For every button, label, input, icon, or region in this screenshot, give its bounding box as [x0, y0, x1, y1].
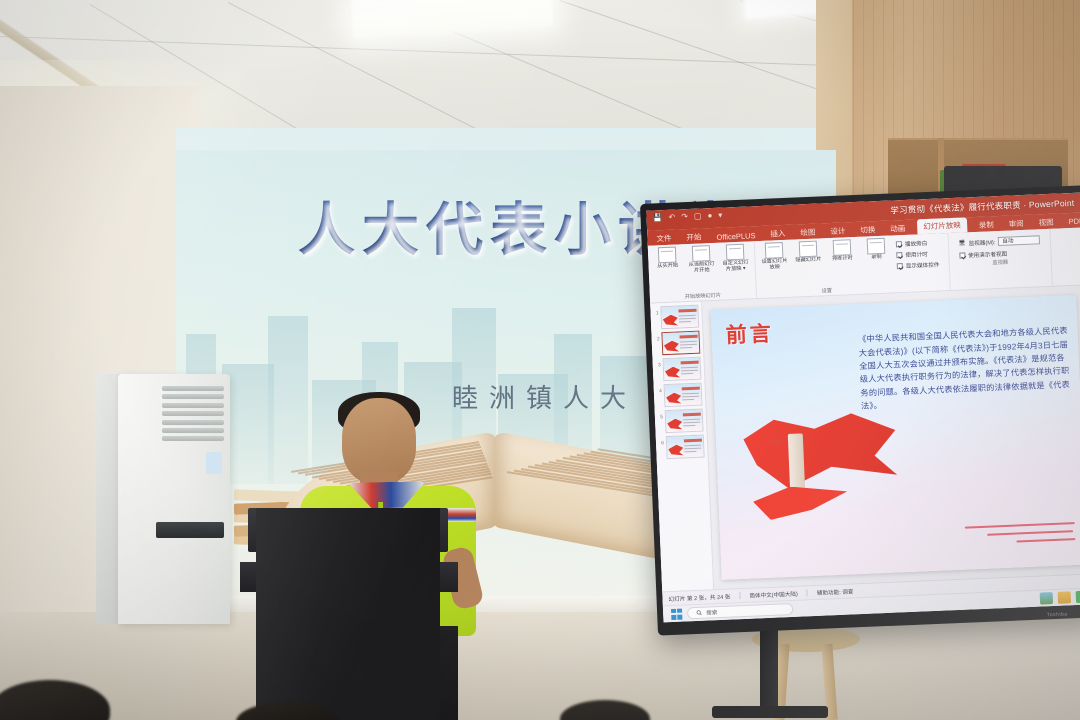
ribbon-button-label: 自定义幻灯片放映 ▾	[720, 260, 750, 273]
ribbon-button-label: 设置幻灯片放映	[759, 259, 789, 272]
play-from-start-icon	[658, 247, 677, 264]
wall-banner-subtitle: 睦洲镇人大	[452, 378, 637, 415]
play-from-current-button[interactable]: 从当前幻灯片开始	[686, 245, 717, 275]
slide-stage: 前言 《中华人民共和国全国人民代表大会和地方各级人民代表大会代表法)》(以下简称…	[702, 285, 1080, 589]
slide-thumbnail[interactable]: 1	[652, 305, 700, 330]
setup-show-icon	[765, 242, 784, 259]
ribbon-button-label: 从头开始	[657, 263, 678, 270]
slide-thumbnail-number: 1	[652, 306, 658, 316]
search-input[interactable]: 搜索	[687, 603, 793, 619]
ribbon-tab-1[interactable]: 开始	[683, 230, 705, 244]
ribbon-button-label: 排练计时	[832, 256, 853, 263]
checkbox-label: 使用计时	[905, 250, 928, 259]
current-slide[interactable]: 前言 《中华人民共和国全国人民代表大会和地方各级人民代表大会代表法)》(以下简称…	[710, 294, 1080, 580]
ribbon-tab-10[interactable]: 审阅	[1005, 217, 1027, 231]
custom-show-icon	[726, 244, 745, 261]
ribbon-button-label: 录制	[871, 255, 882, 261]
checkbox-label: 显示媒体控件	[906, 261, 940, 270]
ribbon-tab-9[interactable]: 录制	[975, 218, 997, 232]
language-indicator[interactable]: 简体中文(中国大陆)	[749, 589, 798, 599]
record-button[interactable]: 录制	[861, 238, 892, 262]
play-from-current-icon	[692, 245, 711, 262]
start-icon[interactable]	[671, 608, 682, 619]
monitor-icon: 🖥	[958, 240, 965, 246]
floor	[0, 612, 1080, 720]
present-icon[interactable]: ▢	[694, 211, 702, 220]
ribbon-button-label: 从当前幻灯片开始	[687, 262, 717, 275]
air-conditioner-side	[96, 374, 120, 624]
touch-mode-icon[interactable]: ●	[707, 211, 712, 220]
hide-slide-button[interactable]: 隐藏幻灯片	[793, 240, 824, 264]
air-conditioner-badge	[206, 452, 222, 474]
checkbox-icon	[896, 252, 902, 258]
slide-thumbnail[interactable]: 2	[653, 331, 701, 356]
search-placeholder: 搜索	[706, 608, 718, 616]
ribbon-checkbox-1[interactable]: 使用计时	[896, 250, 939, 260]
ribbon-group-setup: 设置幻灯片放映隐藏幻灯片排练计时录制 设置 播放旁白使用计时显示媒体控件	[755, 233, 951, 298]
accessibility-indicator[interactable]: 辅助功能: 调查	[817, 587, 854, 597]
setup-show-button[interactable]: 设置幻灯片放映	[759, 242, 790, 272]
quick-access-toolbar[interactable]: 💾 ↶ ↷ ▢ ● ▾	[652, 211, 722, 223]
wechat-icon[interactable]	[1076, 591, 1080, 604]
slide-thumbnail-preview	[665, 409, 704, 434]
air-conditioner-control-panel[interactable]	[156, 522, 224, 538]
rehearse-timings-icon	[833, 239, 852, 256]
air-conditioner-vents	[162, 386, 224, 444]
ribbon-tab-6[interactable]: 切换	[857, 223, 879, 237]
checkbox-icon	[896, 241, 902, 247]
ribbon-tab-11[interactable]: 视图	[1035, 216, 1057, 230]
weather-icon[interactable]	[1040, 592, 1053, 605]
tv-stand-post	[760, 628, 778, 714]
custom-show-button[interactable]: 自定义幻灯片放映 ▾	[720, 243, 751, 273]
powerpoint-window: 💾 ↶ ↷ ▢ ● ▾ 学习贯彻《代表法》履行代表职责 · PowerPoint…	[646, 193, 1080, 623]
slide-thumbnail-number: 2	[653, 332, 659, 342]
slide-decor-lines	[965, 522, 1076, 551]
tv-stand-base	[712, 706, 828, 718]
slide-body-text: 《中华人民共和国全国人民代表大会和地方各级人民代表大会代表法)》(以下简称《代表…	[858, 324, 1074, 413]
tv-bezel: 💾 ↶ ↷ ▢ ● ▾ 学习贯彻《代表法》履行代表职责 · PowerPoint…	[640, 185, 1080, 635]
ribbon-tab-7[interactable]: 动画	[887, 222, 909, 236]
explorer-icon[interactable]	[1058, 591, 1071, 604]
hide-slide-icon	[799, 241, 818, 258]
slide-thumbnail[interactable]: 5	[657, 409, 705, 434]
rehearse-timings-button[interactable]: 排练计时	[827, 239, 858, 263]
ribbon-tab-0[interactable]: 文件	[653, 232, 675, 246]
monitor-select[interactable]: 自动	[998, 235, 1040, 246]
slide-thumbnail-number: 3	[654, 358, 660, 368]
slide-thumbnail-number: 6	[658, 436, 664, 446]
ribbon-tab-3[interactable]: 插入	[767, 227, 789, 241]
slide-thumbnail-preview	[664, 383, 703, 408]
tv-screen: 💾 ↶ ↷ ▢ ● ▾ 学习贯彻《代表法》履行代表职责 · PowerPoint…	[646, 193, 1080, 623]
meeting-room-photo: 人大代表小讲堂 睦洲镇人大	[0, 0, 1080, 720]
presenter-view-checkbox[interactable]	[959, 252, 965, 258]
checkbox-icon	[897, 263, 903, 269]
play-from-start-button[interactable]: 从头开始	[652, 246, 683, 270]
slide-thumbnail-preview	[661, 331, 700, 356]
slide-heading: 前言	[725, 318, 774, 350]
more-icon[interactable]: ▾	[718, 211, 722, 220]
tv-brand-label: Toshiba	[1047, 611, 1068, 618]
redo-icon[interactable]: ↷	[681, 212, 688, 221]
ceiling-light-panel	[351, 0, 553, 38]
slide-thumbnail-preview	[660, 305, 699, 330]
slide-thumbnail-preview	[662, 357, 701, 382]
slide-thumbnail-number: 5	[657, 410, 663, 420]
save-icon[interactable]: 💾	[652, 213, 662, 222]
podium	[256, 508, 440, 720]
undo-icon[interactable]: ↶	[668, 213, 675, 222]
ribbon-checkbox-2[interactable]: 显示媒体控件	[897, 261, 940, 271]
ribbon-button-label: 隐藏幻灯片	[795, 257, 821, 264]
ribbon-checkbox-0[interactable]: 播放旁白	[896, 239, 939, 249]
slide-thumbnail-preview	[666, 435, 705, 460]
monitor-label: 监视器(M):	[968, 238, 995, 247]
slide-thumbnail-number: 4	[656, 384, 662, 394]
slide-thumbnail[interactable]: 6	[658, 434, 706, 459]
editor-body: 123456 前言 《中华人民共和国全国人民代表大会和地方各级人民代表大会代表法…	[650, 285, 1080, 591]
ribbon-tab-4[interactable]: 绘图	[797, 226, 819, 240]
television-display: 💾 ↶ ↷ ▢ ● ▾ 学习贯彻《代表法》履行代表职责 · PowerPoint…	[640, 185, 1080, 635]
slide-counter[interactable]: 幻灯片 第 2 张，共 24 张	[668, 592, 730, 603]
record-icon	[867, 238, 886, 255]
ribbon-tab-5[interactable]: 设计	[827, 224, 849, 238]
slide-thumbnail[interactable]: 4	[656, 383, 704, 408]
slide-flag-graphic	[729, 405, 903, 536]
ribbon-tab-12[interactable]: PDF工具集	[1065, 213, 1080, 228]
checkbox-label: 播放旁白	[905, 239, 928, 248]
ribbon-checkbox-list[interactable]: 播放旁白使用计时显示媒体控件	[891, 235, 946, 292]
slide-thumbnail[interactable]: 3	[654, 357, 702, 382]
ribbon-group-monitor: 🖥 监视器(M): 自动 使用演示者视图 监视器	[948, 229, 1053, 290]
search-icon	[696, 610, 702, 616]
ribbon-group-start-show: 从头开始从当前幻灯片开始自定义幻灯片放映 ▾ 开始放映幻灯片	[648, 241, 757, 302]
